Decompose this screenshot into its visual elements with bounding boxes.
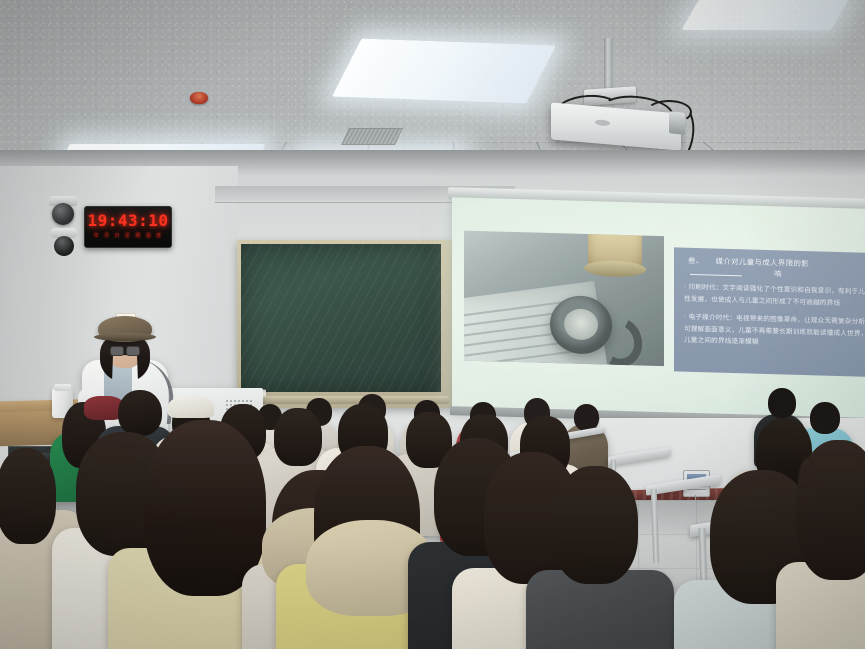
slide-title: 叁、媒介对儿童与成人界限的影 响: [688, 255, 865, 282]
ceiling-vent: [341, 128, 403, 145]
blackboard: [241, 244, 441, 392]
student-head: [810, 402, 840, 434]
slide-bullet: · 印刷时代：文字阅读强化了个性意识和自我意识，有利于儿童的个性发展，也使成人与…: [684, 282, 865, 311]
student-hair: [796, 440, 865, 580]
clock-time: 19:43:10: [85, 211, 171, 230]
ceiling-light-panel: [332, 39, 556, 104]
led-wall-clock: 19:43:10 年 月 日 星 期 温 度: [84, 206, 172, 248]
student-head: [118, 390, 162, 436]
glasses-icon: [110, 346, 140, 354]
clock-sub-label: 年 月 日 星 期 温 度: [85, 232, 171, 239]
slide-body: · 印刷时代：文字阅读强化了个性意识和自我意识，有利于儿童的个性发展，也使成人与…: [684, 282, 865, 360]
dome-camera-icon: [52, 203, 74, 225]
student-hair: [274, 408, 322, 466]
slide-bullet: · 电子媒介时代：电视带来的图像革命，让观众无需复杂分析解码即可理解画面意义，儿…: [684, 312, 865, 353]
slide-text-panel: 叁、媒介对儿童与成人界限的影 响 · 印刷时代：文字阅读强化了个性意识和自我意识…: [674, 247, 865, 377]
ceiling-light-strip: [681, 0, 848, 30]
presenter-beret: [98, 316, 152, 342]
dome-camera-icon: [54, 236, 74, 256]
photo-glass-cup: [588, 231, 642, 276]
slide-title-number: 叁、: [688, 256, 704, 265]
slide-title-text: 媒介对儿童与成人界限的影: [716, 257, 810, 269]
classroom-photo: 19:43:10 年 月 日 星 期 温 度 叁、媒介对儿童与成人界限的影 响: [0, 0, 865, 649]
slide-photo: [464, 231, 664, 367]
student-hair: [0, 448, 56, 544]
student-head: [768, 388, 796, 418]
student-hair: [552, 466, 638, 584]
smoke-detector-icon: [190, 92, 208, 104]
student-cap: [168, 396, 214, 418]
projection-screen: 叁、媒介对儿童与成人界限的影 响 · 印刷时代：文字阅读强化了个性意识和自我意识…: [452, 197, 865, 424]
